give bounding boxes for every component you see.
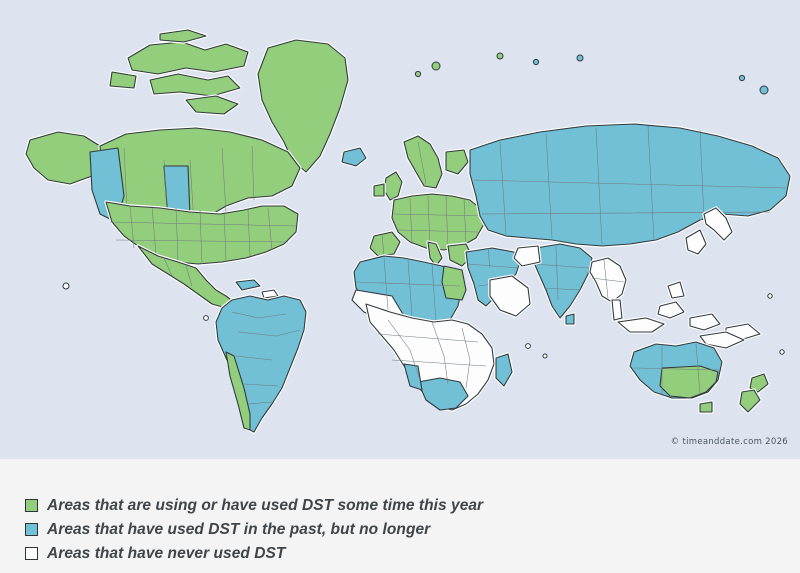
world-map-svg — [0, 0, 800, 459]
dst-world-map-page: © timeanddate.com 2026 Areas that are us… — [0, 0, 800, 573]
map-credit: © timeanddate.com 2026 — [671, 437, 788, 447]
legend-label-past-dst: Areas that have used DST in the past, bu… — [47, 521, 430, 539]
map-legend: Areas that are using or have used DST so… — [0, 459, 800, 573]
legend-item-never-dst[interactable]: Areas that have never used DST — [25, 543, 285, 564]
legend-swatch-blue — [25, 523, 38, 536]
world-map-panel: © timeanddate.com 2026 — [0, 0, 800, 459]
legend-swatch-green — [25, 499, 38, 512]
legend-label-never-dst: Areas that have never used DST — [47, 545, 285, 563]
legend-item-past-dst[interactable]: Areas that have used DST in the past, bu… — [25, 519, 430, 540]
legend-swatch-white — [25, 547, 38, 560]
legend-label-uses-dst: Areas that are using or have used DST so… — [47, 497, 483, 515]
legend-item-uses-dst[interactable]: Areas that are using or have used DST so… — [25, 495, 483, 516]
